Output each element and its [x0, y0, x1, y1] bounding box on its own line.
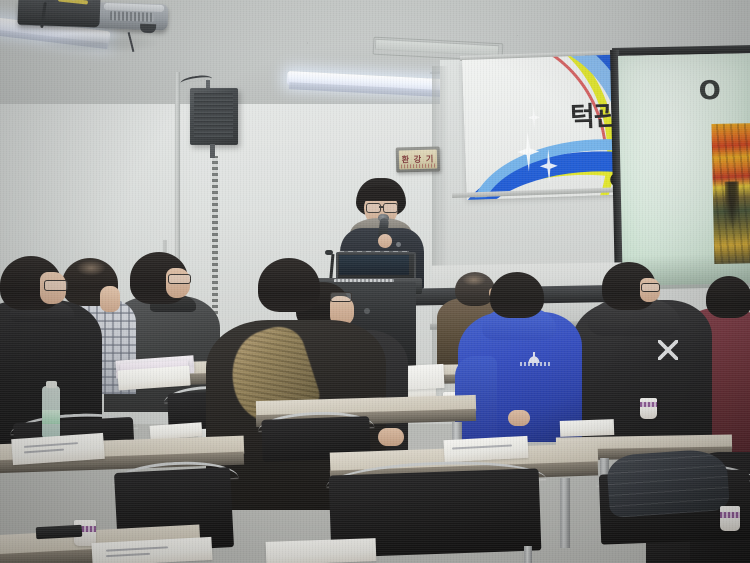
- glasses-bridge: [379, 206, 384, 208]
- jacket-x-logo-icon: [658, 340, 678, 360]
- gooseneck-mic-icon: [325, 250, 333, 255]
- bottle-cap: [46, 381, 57, 388]
- paper-cup: [720, 506, 740, 531]
- ceiling-projector: [18, 0, 168, 32]
- paper-cup-band: [640, 402, 657, 407]
- document-sheet: [266, 538, 377, 563]
- speaker-grille-icon: [194, 93, 233, 139]
- attendee-hand: [378, 428, 404, 446]
- projector-lens: [140, 24, 156, 34]
- puffy-jacket-quilting: [606, 448, 730, 518]
- paper-cup-band: [720, 512, 740, 518]
- glasses-icon: [383, 203, 398, 213]
- attendee-hand: [100, 286, 120, 312]
- podium-knob: [364, 308, 370, 314]
- slide-artwork-figure: [725, 182, 740, 230]
- glasses-icon: [366, 203, 381, 213]
- phone-device: [36, 525, 83, 539]
- presenter-fringe: [358, 186, 404, 201]
- glasses-icon: [641, 283, 660, 292]
- chair-leg: [524, 546, 532, 563]
- projector-mount-bracket: [18, 0, 101, 27]
- monitor-screen: [339, 255, 409, 275]
- presenter-hand: [378, 234, 392, 248]
- projection-screen: O: [618, 53, 750, 286]
- seminar-room-photo: 환 강 기 턱관절 O: [0, 0, 750, 563]
- presenter-badge: [396, 242, 401, 247]
- glasses-icon: [330, 292, 352, 302]
- slide-letter: O: [698, 78, 721, 104]
- projector-vents: [110, 11, 154, 22]
- attendee-head: [706, 276, 750, 318]
- speaker-bracket-bottom: [210, 144, 215, 158]
- projector-shadow: [40, 32, 160, 54]
- attendee-head: [490, 272, 544, 318]
- attendee-scalp-highlight: [462, 274, 486, 286]
- glasses-icon: [44, 280, 68, 291]
- desk-leg: [560, 478, 570, 548]
- projector-mount-arm: [45, 0, 56, 4]
- attendee-scalp-highlight: [76, 260, 106, 276]
- attendee-head: [258, 258, 320, 312]
- document-sheet: [560, 419, 615, 437]
- bottle-label: [42, 410, 60, 424]
- glasses-icon: [168, 274, 191, 284]
- attendee-hand: [508, 410, 530, 426]
- jacket-brand-text: [520, 362, 550, 366]
